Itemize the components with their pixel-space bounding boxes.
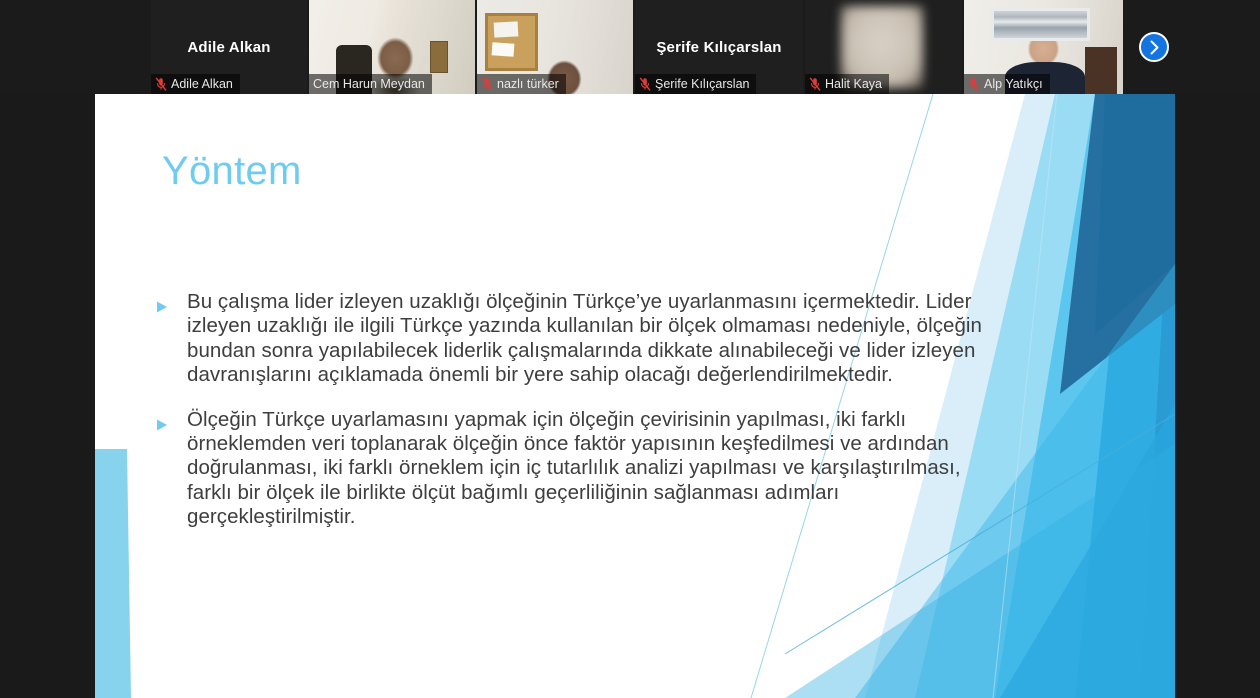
participant-name-label: Cem Harun Meydan bbox=[313, 77, 425, 91]
participant-namebar: Halit Kaya bbox=[805, 74, 889, 94]
participant-namebar: Cem Harun Meydan bbox=[309, 74, 432, 94]
microphone-muted-icon bbox=[968, 77, 980, 91]
participant-tile-cem-harun-meydan[interactable]: Cem Harun Meydan bbox=[309, 0, 475, 94]
slide-bullet-list: Bu çalışma lider izleyen uzaklığı ölçeği… bbox=[155, 290, 985, 550]
wall-picture-frame bbox=[430, 41, 448, 73]
cabinet bbox=[1085, 47, 1117, 94]
bullet-triangle-icon bbox=[155, 300, 169, 314]
participant-name-label: Şerife Kılıçarslan bbox=[655, 77, 749, 91]
slide-title: Yöntem bbox=[162, 149, 302, 194]
microphone-muted-icon bbox=[809, 77, 821, 91]
participant-name-label: Alp Yatıkçı bbox=[984, 77, 1043, 91]
participant-tile-halit-kaya[interactable]: Halit Kaya bbox=[805, 0, 962, 94]
chevron-right-icon bbox=[1148, 40, 1161, 55]
presentation-slide[interactable]: Yöntem Bu çalışma lider izleyen uzaklığı… bbox=[95, 94, 1175, 698]
participant-namebar: Adile Alkan bbox=[151, 74, 240, 94]
participant-tile-nazli-turker[interactable]: nazlı türker bbox=[477, 0, 633, 94]
participant-name-label: nazlı türker bbox=[497, 77, 559, 91]
participant-name-label: Halit Kaya bbox=[825, 77, 882, 91]
bullet-triangle-icon bbox=[155, 418, 169, 432]
microphone-muted-icon bbox=[639, 77, 651, 91]
next-participants-arrow-button[interactable] bbox=[1139, 32, 1169, 62]
slide-bullet-text: Bu çalışma lider izleyen uzaklığı ölçeği… bbox=[187, 290, 985, 388]
participant-tile-adile-alkan[interactable]: Adile Alkan Adile Alkan bbox=[151, 0, 307, 94]
shared-screen-stage: Yöntem Bu çalışma lider izleyen uzaklığı… bbox=[0, 94, 1260, 698]
slide-bullet-item: Bu çalışma lider izleyen uzaklığı ölçeği… bbox=[155, 290, 985, 388]
participant-tile-alp-yatikci[interactable]: Alp Yatıkçı bbox=[964, 0, 1123, 94]
corkboard bbox=[485, 13, 538, 71]
participant-tile-serife-kilicarslan[interactable]: Şerife Kılıçarslan Şerife Kılıçarslan bbox=[635, 0, 803, 94]
participant-name-label: Adile Alkan bbox=[171, 77, 233, 91]
participant-namebar: Alp Yatıkçı bbox=[964, 74, 1050, 94]
slide-bullet-item: Ölçeğin Türkçe uyarlamasını yapmak için … bbox=[155, 408, 985, 530]
slide-bullet-text: Ölçeğin Türkçe uyarlamasını yapmak için … bbox=[187, 408, 985, 530]
slide-content: Yöntem Bu çalışma lider izleyen uzaklığı… bbox=[95, 94, 1175, 698]
microphone-muted-icon bbox=[155, 77, 167, 91]
participant-filmstrip: Adile Alkan Adile Alkan Cem Harun Meydan bbox=[0, 0, 1260, 94]
microphone-muted-icon bbox=[481, 77, 493, 91]
participant-namebar: nazlı türker bbox=[477, 74, 566, 94]
participant-namebar: Şerife Kılıçarslan bbox=[635, 74, 756, 94]
wall-mirror bbox=[991, 8, 1090, 42]
